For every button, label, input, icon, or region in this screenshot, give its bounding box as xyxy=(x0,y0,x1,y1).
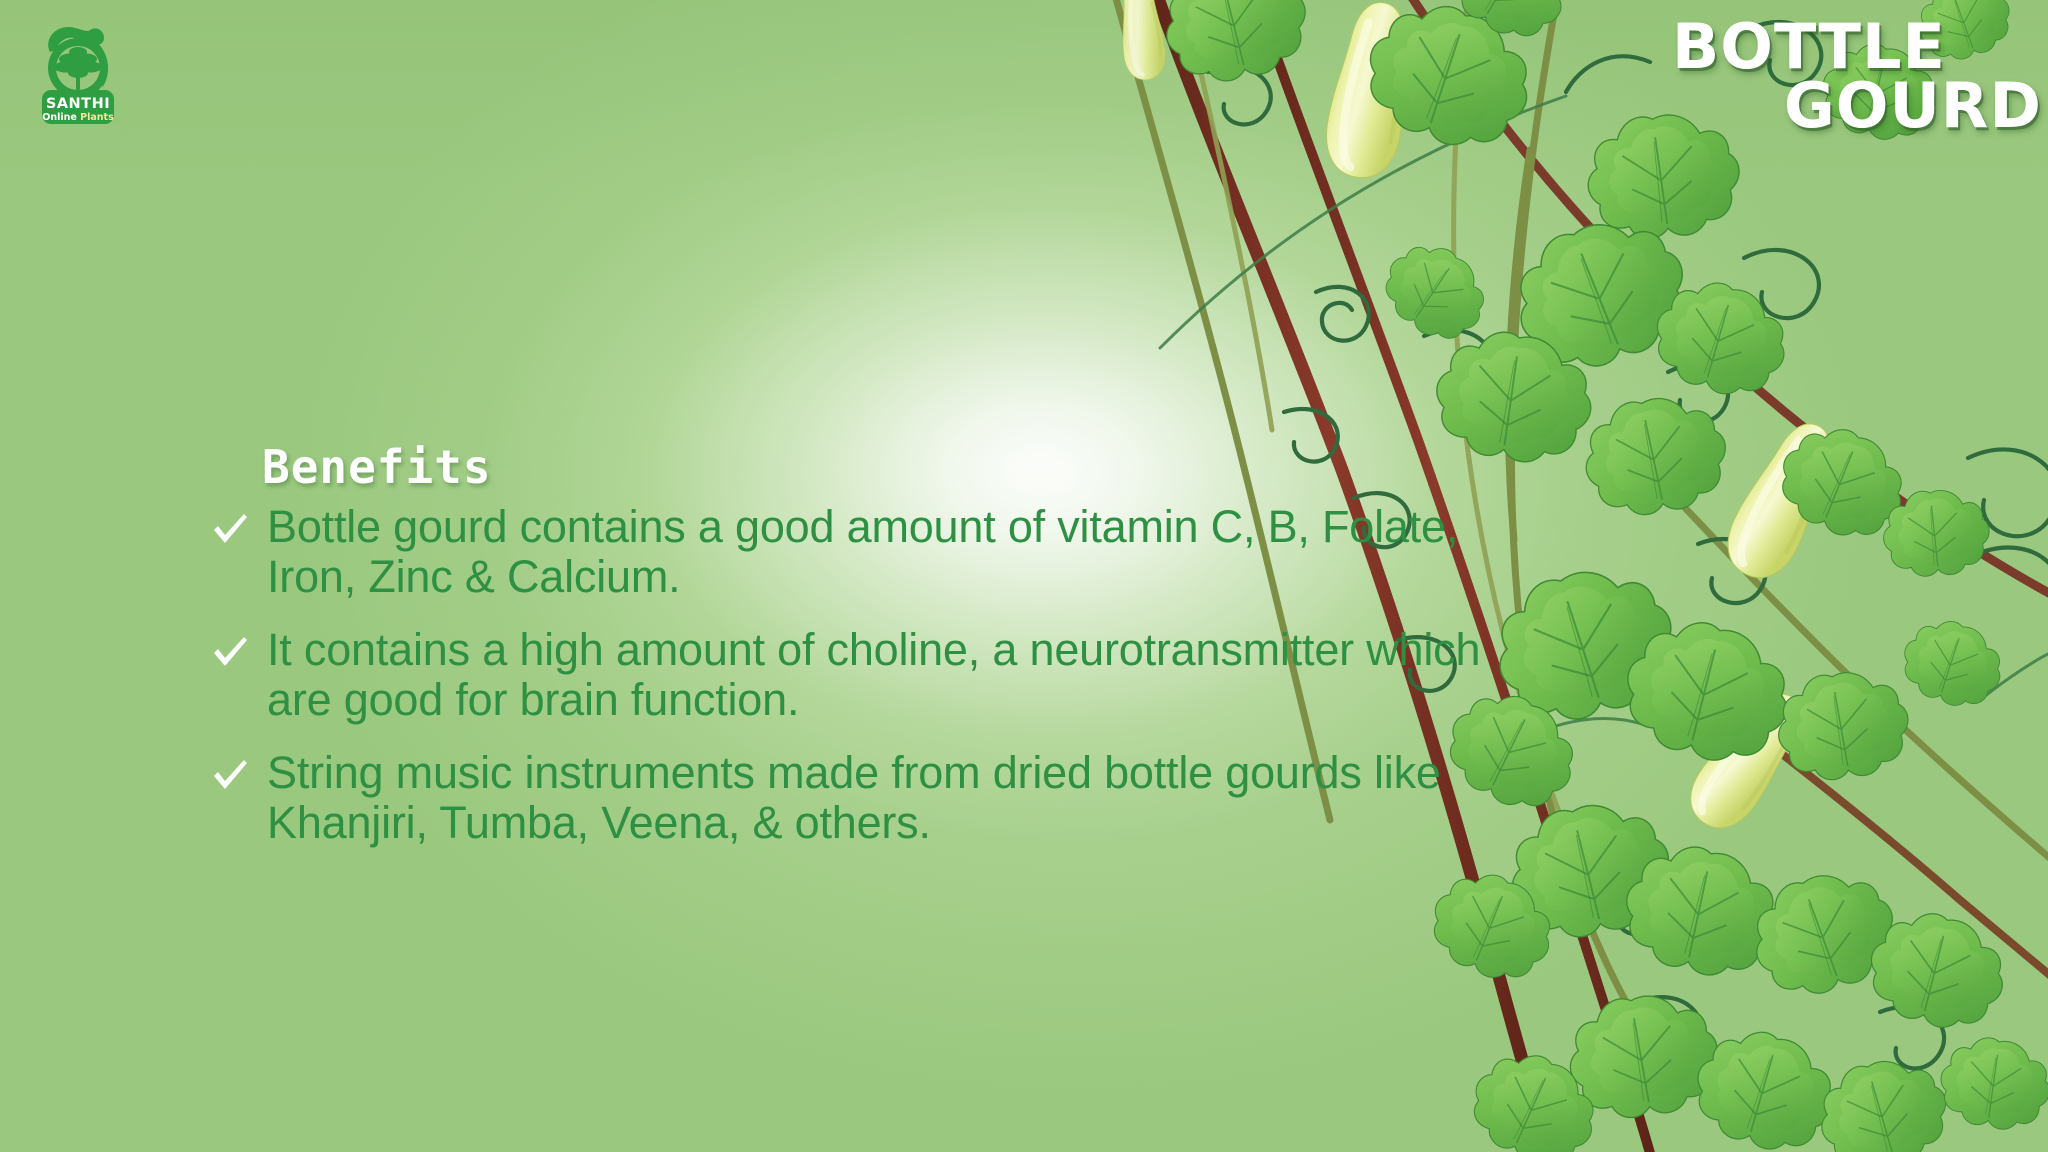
list-item-text: Bottle gourd contains a good amount of v… xyxy=(267,502,1520,603)
list-item: String music instruments made from dried… xyxy=(200,748,1520,849)
list-item: Bottle gourd contains a good amount of v… xyxy=(200,502,1520,603)
benefits-list: Bottle gourd contains a good amount of v… xyxy=(200,502,1520,848)
logo-tagline: Online Plants xyxy=(42,112,114,123)
logo-brand-name: SANTHI xyxy=(46,96,110,112)
logo[interactable]: SANTHI Online Plants xyxy=(26,16,130,128)
check-icon xyxy=(210,510,250,550)
check-icon xyxy=(210,633,250,673)
list-item-text: String music instruments made from dried… xyxy=(267,748,1520,849)
benefits-section: Benefits Bottle gourd contains a good am… xyxy=(200,440,1520,848)
tree-in-circle-icon xyxy=(48,27,108,98)
benefits-heading: Benefits xyxy=(262,440,1520,494)
check-icon xyxy=(210,756,250,796)
slide-canvas: SANTHI Online Plants BOTTLE GOURD Benefi… xyxy=(0,0,2048,1152)
list-item: It contains a high amount of choline, a … xyxy=(200,625,1520,726)
list-item-text: It contains a high amount of choline, a … xyxy=(267,625,1520,726)
